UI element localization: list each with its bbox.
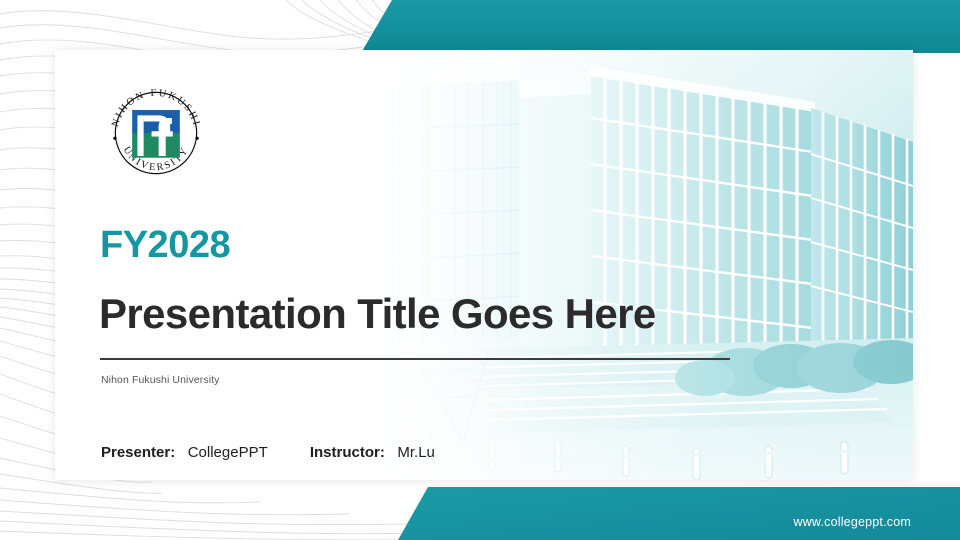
presentation-slide: NIHON FUKUSHI UNIVERSITY xyxy=(0,0,960,540)
slide-card: NIHON FUKUSHI UNIVERSITY xyxy=(55,50,913,480)
university-logo-icon: NIHON FUKUSHI UNIVERSITY xyxy=(103,80,209,186)
title-divider xyxy=(100,358,730,360)
presenter-value: CollegePPT xyxy=(188,444,268,461)
instructor-value: Mr.Lu xyxy=(397,444,435,461)
university-subtitle: Nihon Fukushi University xyxy=(101,374,220,386)
university-seal-svg: NIHON FUKUSHI UNIVERSITY xyxy=(103,80,209,186)
fiscal-year-label: FY2028 xyxy=(100,226,230,264)
credits-line: Presenter: CollegePPT Instructor: Mr.Lu xyxy=(101,444,435,461)
footer-website-url[interactable]: www.collegeppt.com xyxy=(793,515,911,529)
instructor-label: Instructor: xyxy=(310,444,385,461)
card-content: NIHON FUKUSHI UNIVERSITY xyxy=(55,50,913,480)
page-title: Presentation Title Goes Here xyxy=(99,292,656,336)
presenter-label: Presenter: xyxy=(101,444,175,461)
